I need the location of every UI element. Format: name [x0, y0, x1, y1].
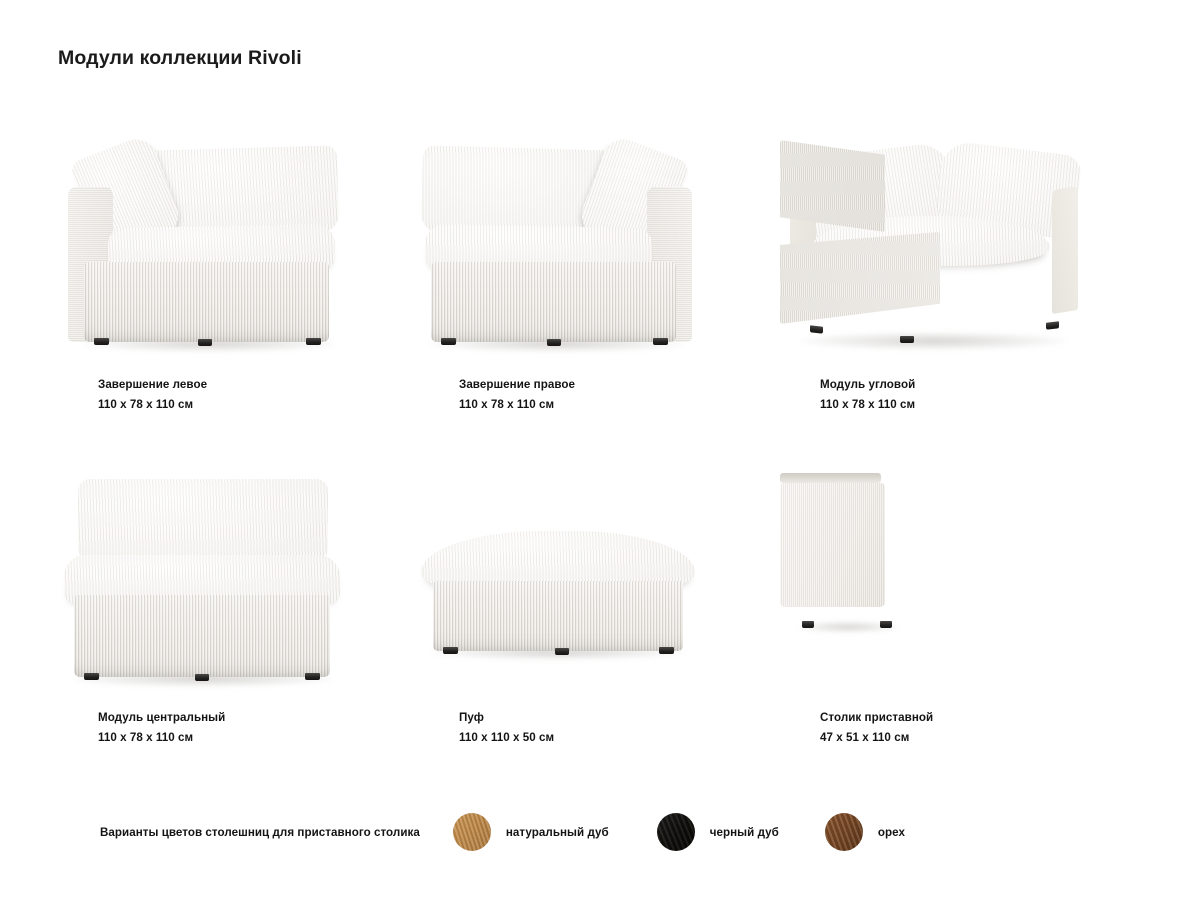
base-frame — [431, 262, 676, 342]
sofa-right-end-module-image — [419, 140, 780, 365]
drop-shadow — [800, 332, 1068, 350]
foot — [441, 338, 456, 345]
module-caption: Модуль центральный 110 x 78 x 110 см — [98, 709, 225, 746]
module-name: Столик приставной — [820, 709, 933, 727]
base-frame — [74, 595, 330, 677]
foot — [880, 621, 892, 628]
module-name: Пуф — [459, 709, 554, 727]
natural-oak-swatch-icon[interactable] — [453, 813, 491, 851]
foot — [802, 621, 814, 628]
module-dimensions: 110 x 110 x 50 см — [459, 729, 554, 747]
walnut-swatch-icon[interactable] — [825, 813, 863, 851]
black-oak-swatch-icon[interactable] — [657, 813, 695, 851]
swatch-option-walnut[interactable]: орех — [825, 813, 905, 851]
module-caption: Столик приставной 47 x 51 x 110 см — [820, 709, 933, 746]
foot — [94, 338, 109, 345]
modules-row: Завершение левое 110 x 78 x 110 см — [58, 140, 1142, 410]
walnut-label: орех — [878, 826, 905, 839]
sofa-left-end-module-image — [58, 140, 419, 365]
module-dimensions: 110 x 78 x 110 см — [98, 729, 225, 747]
module-dimensions: 110 x 78 x 110 см — [98, 396, 207, 414]
base-frame — [433, 581, 683, 651]
module-caption: Завершение правое 110 x 78 x 110 см — [459, 376, 575, 413]
catalog-page: Модули коллекции Rivoli Завершение — [0, 0, 1200, 900]
module-dimensions: 110 x 78 x 110 см — [459, 396, 575, 414]
base-frame-right — [780, 232, 940, 324]
table-body — [780, 483, 885, 607]
module-card-right-end[interactable]: Завершение правое 110 x 78 x 110 см — [419, 140, 780, 410]
page-title: Модули коллекции Rivoli — [58, 47, 302, 70]
module-name: Модуль центральный — [98, 709, 225, 727]
tabletop-color-legend: Варианты цветов столешниц для приставног… — [100, 812, 905, 852]
module-card-pouf[interactable]: Пуф 110 x 110 x 50 см — [419, 473, 780, 743]
module-card-center[interactable]: Модуль центральный 110 x 78 x 110 см — [58, 473, 419, 743]
module-caption: Модуль угловой 110 x 78 x 110 см — [820, 376, 915, 413]
module-name: Модуль угловой — [820, 376, 915, 394]
armrest-right — [1052, 186, 1078, 314]
side-table-image — [780, 473, 1141, 698]
module-card-corner[interactable]: Модуль угловой 110 x 78 x 110 см — [780, 140, 1141, 410]
legend-label: Варианты цветов столешниц для приставног… — [100, 826, 420, 839]
foot — [305, 673, 320, 680]
natural-oak-label: натуральный дуб — [506, 826, 609, 839]
swatch-option-natural-oak[interactable]: натуральный дуб — [453, 813, 609, 851]
foot — [555, 648, 569, 655]
foot — [306, 338, 321, 345]
module-name: Завершение правое — [459, 376, 575, 394]
foot — [653, 338, 668, 345]
swatch-option-black-oak[interactable]: черный дуб — [657, 813, 779, 851]
foot — [547, 339, 561, 346]
module-dimensions: 110 x 78 x 110 см — [820, 396, 915, 414]
foot — [198, 339, 212, 346]
module-name: Завершение левое — [98, 376, 207, 394]
module-card-side-table[interactable]: Столик приставной 47 x 51 x 110 см — [780, 473, 1141, 743]
modules-grid: Завершение левое 110 x 78 x 110 см — [58, 140, 1142, 743]
foot — [84, 673, 99, 680]
module-caption: Пуф 110 x 110 x 50 см — [459, 709, 554, 746]
base-frame-left — [780, 140, 885, 232]
module-dimensions: 47 x 51 x 110 см — [820, 729, 933, 747]
foot — [443, 647, 458, 654]
back-cushion — [78, 479, 328, 563]
modules-row: Модуль центральный 110 x 78 x 110 см Пуф… — [58, 473, 1142, 743]
base-frame — [84, 262, 329, 342]
module-caption: Завершение левое 110 x 78 x 110 см — [98, 376, 207, 413]
module-card-left-end[interactable]: Завершение левое 110 x 78 x 110 см — [58, 140, 419, 410]
sofa-corner-module-image — [780, 140, 1141, 365]
foot — [659, 647, 674, 654]
foot — [1046, 321, 1059, 329]
foot — [810, 325, 823, 333]
ottoman-pouf-image — [419, 473, 780, 698]
foot — [900, 336, 914, 343]
sofa-center-module-image — [58, 473, 419, 698]
black-oak-label: черный дуб — [710, 826, 779, 839]
foot — [195, 674, 209, 681]
table-top-surface — [780, 473, 881, 483]
